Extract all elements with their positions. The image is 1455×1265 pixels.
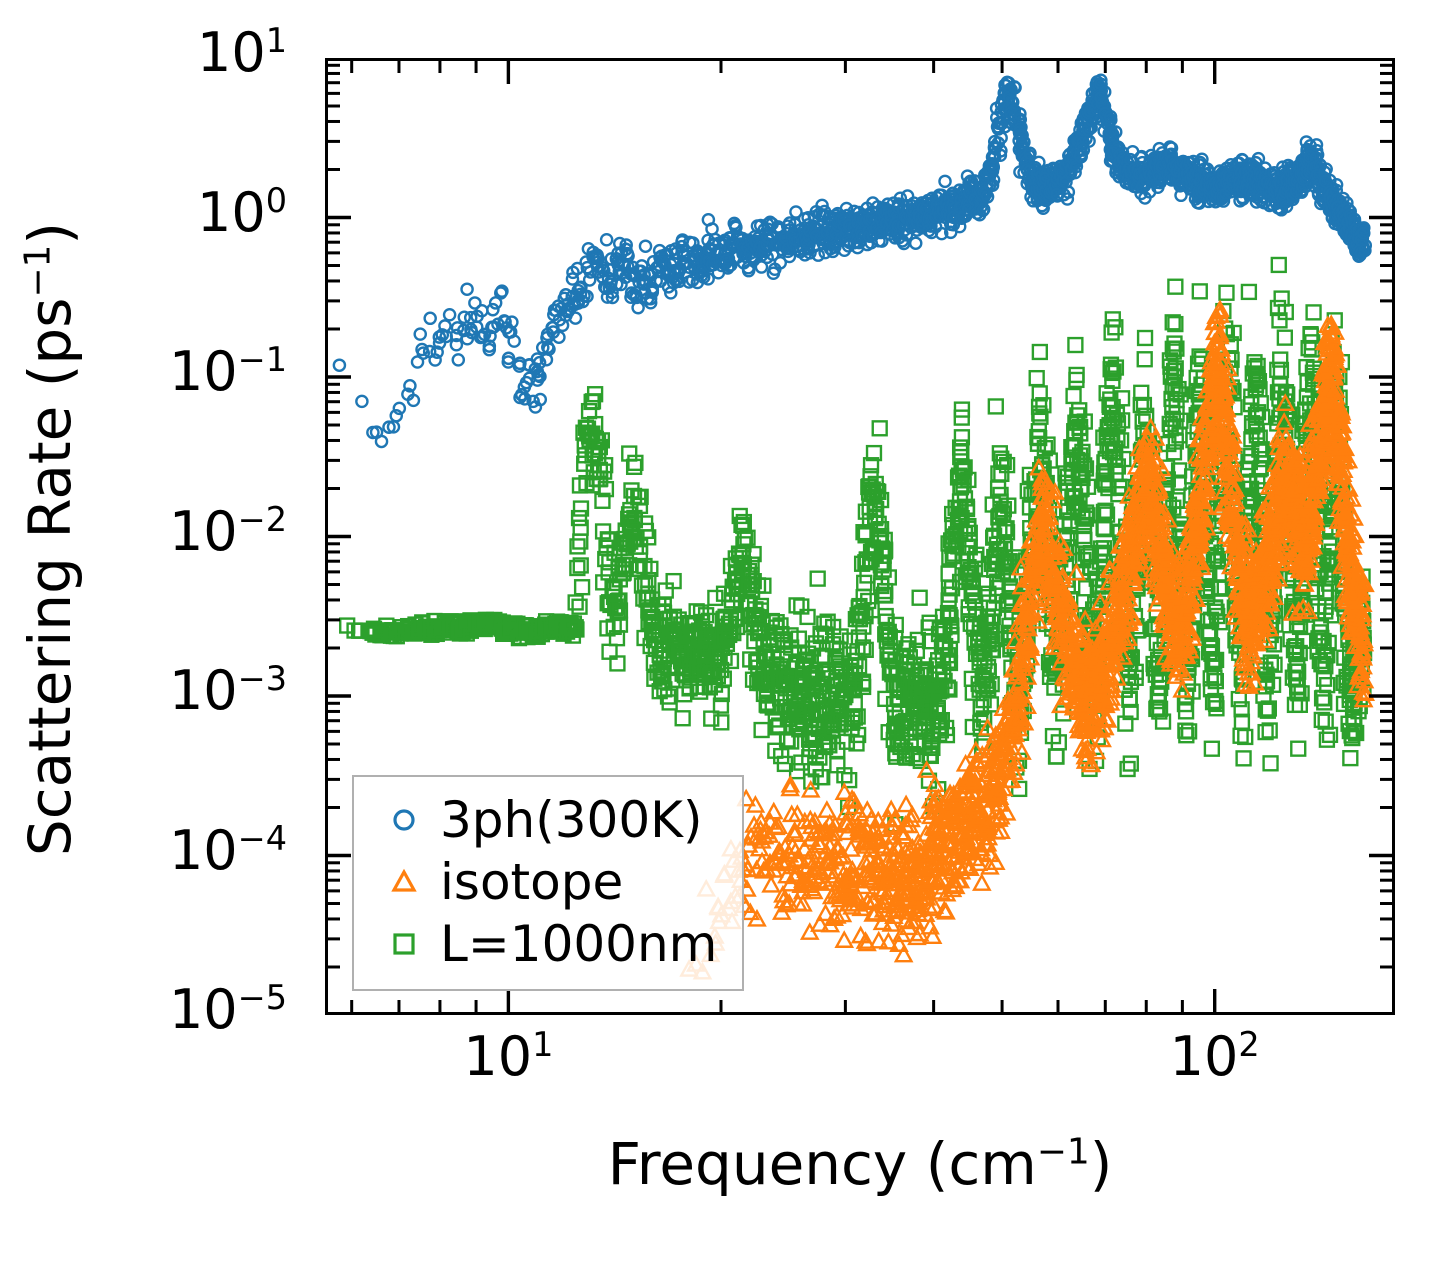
figure-scattering-rate: 10110010−110−210−310−410−5 101102 Freque… <box>0 0 1455 1265</box>
legend-square-open-icon <box>368 929 440 959</box>
y-tick-label-5: 10−4 <box>169 824 305 878</box>
y-axis-title-exponent: −1 <box>18 245 59 298</box>
legend-item-isotope[interactable]: isotope <box>368 851 728 913</box>
x-axis-title-exponent: −1 <box>1037 1132 1090 1173</box>
x-tick-label-1: 102 <box>1170 1030 1260 1084</box>
legend-label-boundary: L=1000nm <box>440 919 717 969</box>
legend-item-boundary[interactable]: L=1000nm <box>368 913 728 975</box>
y-tick-label-0: 101 <box>197 26 305 80</box>
legend-circle-open-icon <box>368 805 440 835</box>
y-tick-label-2: 10−1 <box>169 345 305 399</box>
x-axis-title-tail: ) <box>1090 1130 1113 1198</box>
legend-label-isotope: isotope <box>440 857 623 907</box>
y-tick-label-6: 10−5 <box>169 983 305 1037</box>
x-axis-title-main: Frequency (cm <box>608 1130 1037 1198</box>
y-axis-title-tail: ) <box>16 222 84 245</box>
legend-triangle-open-icon <box>368 867 440 897</box>
legend-label-3ph: 3ph(300K) <box>440 795 702 845</box>
x-axis-tick-labels: 101102 <box>0 1030 1455 1110</box>
y-axis-title: Scattering Rate (ps−1) <box>16 59 84 1019</box>
legend[interactable]: 3ph(300K) isotope L=1000nm <box>352 775 744 991</box>
x-tick-label-0: 101 <box>463 1030 553 1084</box>
x-axis-title: Frequency (cm−1) <box>325 1130 1395 1198</box>
y-tick-label-4: 10−3 <box>169 664 305 718</box>
y-axis-title-main: Scattering Rate (ps <box>16 298 84 856</box>
y-tick-label-3: 10−2 <box>169 505 305 559</box>
y-tick-label-1: 100 <box>197 186 305 240</box>
legend-item-3ph[interactable]: 3ph(300K) <box>368 789 728 851</box>
